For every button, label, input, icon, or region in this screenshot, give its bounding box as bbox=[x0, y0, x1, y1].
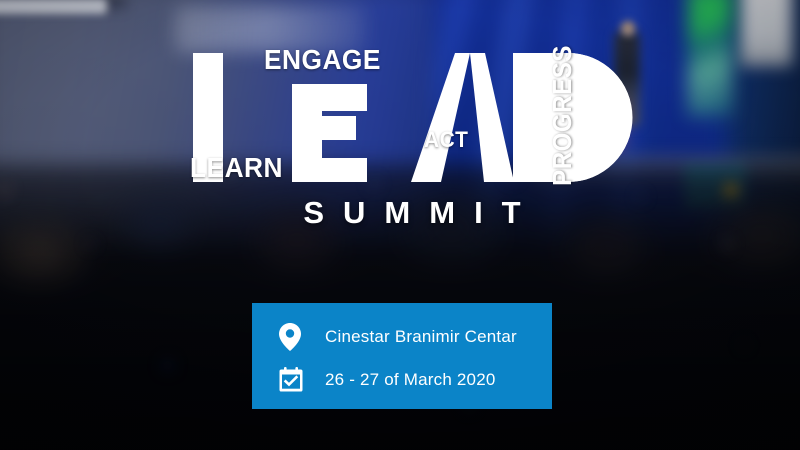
location-pin-icon bbox=[279, 323, 309, 351]
venue-row: Cinestar Branimir Centar bbox=[279, 317, 552, 356]
date-row: 26 - 27 of March 2020 bbox=[279, 360, 552, 399]
venue-label: Cinestar Branimir Centar bbox=[325, 327, 517, 347]
event-info-panel: Cinestar Branimir Centar 26 - 27 of Marc… bbox=[252, 303, 552, 409]
summit-subtitle: SUMMIT bbox=[278, 195, 546, 231]
pillar-word-learn: LEARN bbox=[190, 152, 283, 184]
event-poster: ENGAGE LEARN ACT PROGRESS SUMMIT Cinesta… bbox=[0, 0, 800, 450]
date-label: 26 - 27 of March 2020 bbox=[325, 370, 496, 390]
pillar-word-engage: ENGAGE bbox=[264, 44, 381, 76]
pillar-word-act: ACT bbox=[424, 127, 468, 153]
calendar-check-icon bbox=[279, 367, 309, 392]
pillar-word-progress: PROGRESS bbox=[547, 45, 578, 186]
